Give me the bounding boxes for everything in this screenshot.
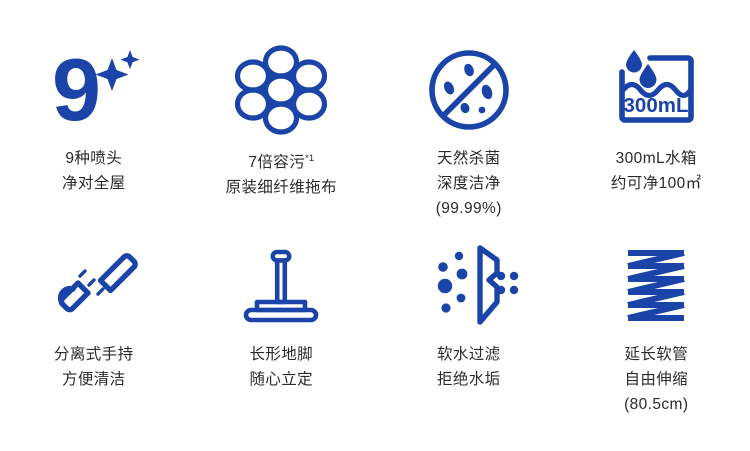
caption-line: 延长软管 (624, 342, 688, 367)
tank-volume-label: 300mL (624, 94, 689, 117)
feature-caption: 300mL水箱 约可净100㎡ (611, 146, 702, 196)
feature-grid: 9 9种喷头 净对全屋 (0, 0, 750, 451)
feature-item-water-filter: 软水过滤 拒绝水垢 (375, 238, 563, 434)
feature-item-standing-base: 长形地脚 随心立定 (188, 238, 376, 434)
feature-caption: 天然杀菌 深度洁净 (99.99%) (436, 146, 502, 221)
feature-item-sterilization: 天然杀菌 深度洁净 (99.99%) (375, 42, 563, 238)
standing-mop-base-icon (221, 238, 341, 334)
caption-line: 方便清洁 (54, 367, 134, 392)
feature-item-extendable-hose: 延长软管 自由伸缩 (80.5cm) (563, 238, 750, 434)
caption-line: 自由伸缩 (624, 367, 688, 392)
water-tank-droplet-icon: 300mL (596, 42, 716, 138)
soft-water-filter-icon (409, 238, 529, 334)
caption-line: 约可净100㎡ (611, 171, 702, 196)
feature-item-mop-pad: 7倍容污*1 原装细纤维拖布 (188, 42, 376, 238)
caption-line: 9种喷头 (62, 146, 126, 171)
caption-line: 净对全屋 (62, 171, 126, 196)
caption-line: 随心立定 (249, 367, 313, 392)
caption-text: 7倍容污 (248, 154, 305, 171)
caption-line: 长形地脚 (249, 342, 313, 367)
feature-caption: 9种喷头 净对全屋 (62, 146, 126, 196)
caption-line: (99.99%) (436, 196, 502, 221)
caption-line: 原装细纤维拖布 (226, 175, 337, 200)
caption-line: 天然杀菌 (436, 146, 502, 171)
feature-caption: 软水过滤 拒绝水垢 (437, 342, 501, 392)
feature-caption: 分离式手持 方便清洁 (54, 342, 134, 392)
caption-line: (80.5cm) (624, 392, 688, 417)
svg-text:9: 9 (52, 40, 101, 139)
feature-item-detachable-handheld: 分离式手持 方便清洁 (0, 238, 188, 434)
detachable-handheld-icon (34, 238, 154, 334)
caption-line: 拒绝水垢 (437, 367, 501, 392)
caption-line: 分离式手持 (54, 342, 134, 367)
extendable-coiled-hose-icon (596, 238, 716, 334)
feature-caption: 7倍容污*1 原装细纤维拖布 (226, 146, 337, 200)
feature-caption: 长形地脚 随心立定 (249, 342, 313, 392)
feature-caption: 延长软管 自由伸缩 (80.5cm) (624, 342, 688, 417)
caption-line: 深度洁净 (436, 171, 502, 196)
caption-line: 7倍容污*1 (226, 146, 337, 175)
caption-line: 软水过滤 (437, 342, 501, 367)
feature-item-spray-nozzles: 9 9种喷头 净对全屋 (0, 42, 188, 238)
caption-line: 300mL水箱 (611, 146, 702, 171)
no-germs-crossed-circle-icon (409, 42, 529, 138)
nine-spray-nozzle-sparkle-icon: 9 (34, 42, 154, 138)
feature-item-water-tank: 300mL 300mL水箱 约可净100㎡ (563, 42, 750, 238)
caption-superscript: *1 (305, 153, 314, 164)
seven-circle-flower-mop-pad-icon (221, 42, 341, 138)
